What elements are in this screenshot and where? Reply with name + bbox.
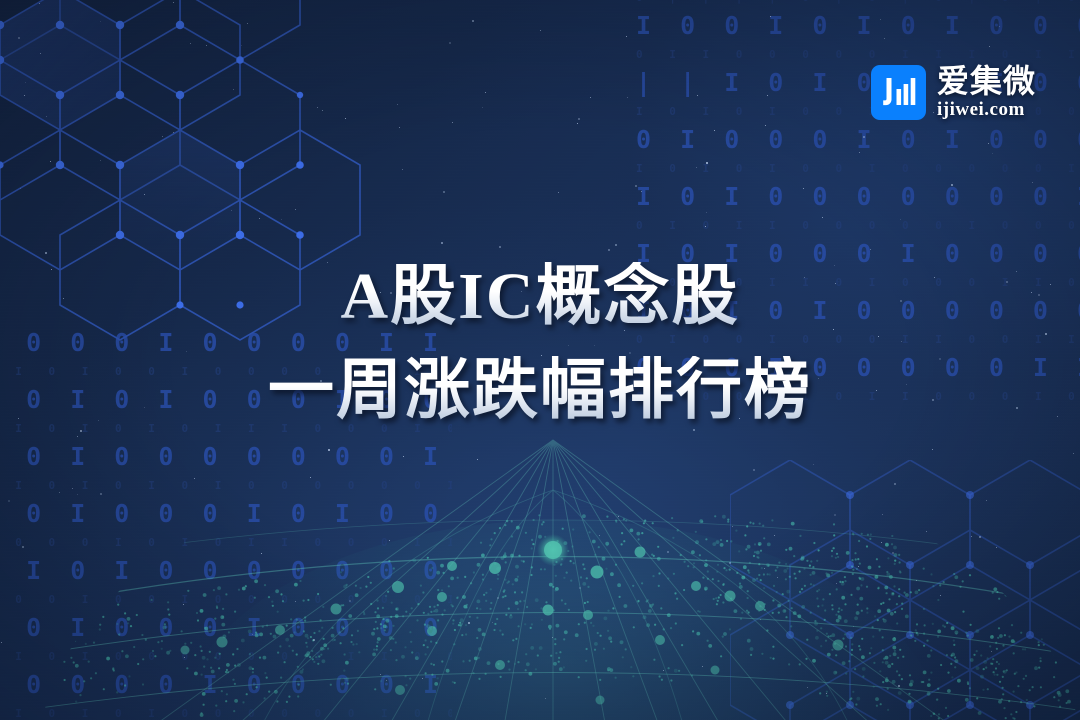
star-dot: [803, 188, 804, 189]
star-dot: [497, 597, 499, 599]
star-dot: [328, 449, 330, 451]
star-dot: [884, 38, 885, 39]
star-dot: [705, 226, 706, 227]
star-dot: [858, 566, 859, 567]
star-dot: [882, 514, 883, 515]
star-dot: [39, 3, 40, 4]
star-dot: [926, 531, 927, 532]
star-dot: [667, 551, 669, 553]
star-dot: [590, 97, 591, 98]
star-dot: [24, 95, 25, 96]
star-dot: [813, 464, 814, 465]
star-dot: [190, 43, 191, 44]
star-dot: [545, 698, 546, 699]
star-dot: [8, 500, 10, 502]
star-dot: [881, 542, 882, 543]
star-dot: [770, 16, 771, 17]
star-dot: [100, 493, 102, 495]
star-dot: [577, 123, 578, 124]
star-dot: [892, 552, 894, 554]
star-dot: [764, 568, 765, 569]
star-dot: [100, 160, 101, 161]
star-dot: [599, 535, 600, 536]
brand-name-cn: 爱集微: [937, 64, 1036, 99]
star-dot: [940, 595, 941, 596]
star-dot: [241, 45, 242, 46]
star-dot: [697, 95, 698, 96]
star-dot: [194, 478, 195, 479]
star-dot: [485, 92, 486, 93]
star-dot: [618, 516, 619, 517]
star-dot: [386, 680, 387, 681]
star-dot: [1073, 453, 1074, 454]
star-dot: [706, 212, 707, 213]
star-dot: [492, 622, 493, 623]
star-dot: [441, 242, 443, 244]
star-dot: [822, 217, 823, 218]
page-title: A股IC概念股 一周涨跌幅排行榜: [0, 262, 1080, 426]
star-dot: [310, 477, 311, 478]
star-dot: [836, 583, 837, 584]
star-dot: [767, 95, 768, 96]
logo-text-block: 爱集微 ijiwei.com: [937, 64, 1036, 120]
star-dot: [693, 429, 695, 431]
star-dot: [402, 169, 403, 170]
star-dot: [452, 122, 453, 123]
star-dot: [18, 37, 20, 39]
star-dot: [295, 209, 296, 210]
star-dot: [233, 89, 234, 90]
star-dot: [25, 82, 26, 83]
star-dot: [760, 619, 761, 620]
star-dot: [184, 657, 185, 658]
star-dot: [863, 136, 865, 138]
star-dot: [281, 219, 282, 220]
star-dot: [247, 23, 248, 24]
star-dot: [774, 535, 775, 536]
star-dot: [696, 167, 697, 168]
star-dot: [482, 107, 483, 108]
star-dot: [468, 622, 470, 624]
banner-canvas: 0 | | | | 0 | 0 | 0 | 0 | 0 | 0 | 0 | |I…: [0, 0, 1080, 720]
star-dot: [702, 666, 703, 667]
star-dot: [992, 153, 993, 154]
star-dot: [859, 152, 860, 153]
star-dot: [80, 430, 82, 432]
star-dot: [449, 42, 451, 44]
star-dot: [477, 459, 478, 460]
star-dot: [144, 194, 145, 195]
star-dot: [40, 53, 41, 54]
star-dot: [261, 553, 262, 554]
star-dot: [77, 494, 78, 495]
star-dot: [988, 143, 989, 144]
star-dot: [472, 20, 474, 22]
star-dot: [173, 132, 174, 133]
star-dot: [991, 651, 992, 652]
title-line-2: 一周涨跌幅排行榜: [0, 356, 1080, 426]
star-dot: [499, 246, 501, 248]
star-dot: [932, 449, 933, 450]
star-dot: [951, 184, 953, 186]
star-dot: [20, 188, 21, 189]
star-dot: [443, 191, 445, 193]
star-dot: [615, 244, 617, 246]
star-dot: [729, 562, 731, 564]
star-dot: [206, 45, 207, 46]
star-dot: [971, 536, 972, 537]
star-dot: [732, 526, 733, 527]
star-dot: [552, 637, 553, 638]
star-dot: [979, 536, 981, 538]
star-dot: [173, 2, 174, 3]
star-dot: [898, 685, 900, 687]
star-dot: [317, 107, 318, 108]
star-dot: [162, 136, 163, 137]
star-dot: [714, 130, 715, 131]
star-dot: [635, 185, 637, 187]
star-dot: [608, 249, 610, 251]
star-dot: [853, 626, 854, 627]
star-dot: [259, 218, 260, 219]
star-dot: [45, 252, 47, 254]
star-dot: [295, 601, 296, 602]
star-dot: [579, 587, 581, 589]
star-dot: [880, 19, 881, 20]
star-dot: [826, 693, 827, 694]
star-dot: [183, 604, 184, 605]
star-dot: [916, 580, 917, 581]
star-dot: [59, 492, 60, 493]
star-dot: [380, 674, 381, 675]
star-dot: [753, 469, 755, 471]
star-dot: [345, 118, 346, 119]
star-dot: [996, 547, 997, 548]
star-dot: [999, 26, 1000, 27]
star-dot: [1, 642, 2, 643]
star-dot: [627, 97, 628, 98]
star-dot: [706, 162, 708, 164]
brand-logo[interactable]: 爱集微 ijiwei.com: [871, 64, 1036, 120]
star-dot: [46, 116, 47, 117]
star-dot: [252, 634, 253, 635]
star-dot: [663, 670, 664, 671]
star-dot: [349, 600, 351, 602]
star-dot: [834, 514, 836, 516]
star-dot: [50, 161, 51, 162]
star-dot: [641, 191, 642, 192]
star-dot: [72, 488, 73, 489]
star-dot: [540, 30, 541, 31]
star-dot: [22, 546, 24, 548]
star-dot: [626, 36, 627, 37]
star-dot: [989, 46, 990, 47]
star-dot: [986, 500, 987, 501]
star-dot: [765, 125, 766, 126]
star-dot: [100, 21, 101, 22]
star-dot: [558, 192, 559, 193]
star-dot: [422, 678, 423, 679]
star-dot: [807, 687, 808, 688]
star-dot: [389, 540, 390, 541]
bar-chart-j-icon: [871, 65, 926, 120]
title-line-1: A股IC概念股: [0, 262, 1080, 332]
star-dot: [1032, 182, 1033, 183]
star-dot: [322, 110, 323, 111]
star-dot: [77, 436, 78, 437]
star-dot: [870, 249, 871, 250]
star-dot: [777, 577, 778, 578]
brand-domain: ijiwei.com: [937, 100, 1036, 121]
star-dot: [397, 104, 398, 105]
star-dot: [403, 456, 404, 457]
star-dot: [894, 483, 896, 485]
star-dot: [578, 118, 580, 120]
star-dot: [900, 219, 901, 220]
star-dot: [313, 639, 315, 641]
star-dot: [231, 210, 232, 211]
star-dot: [399, 127, 400, 128]
